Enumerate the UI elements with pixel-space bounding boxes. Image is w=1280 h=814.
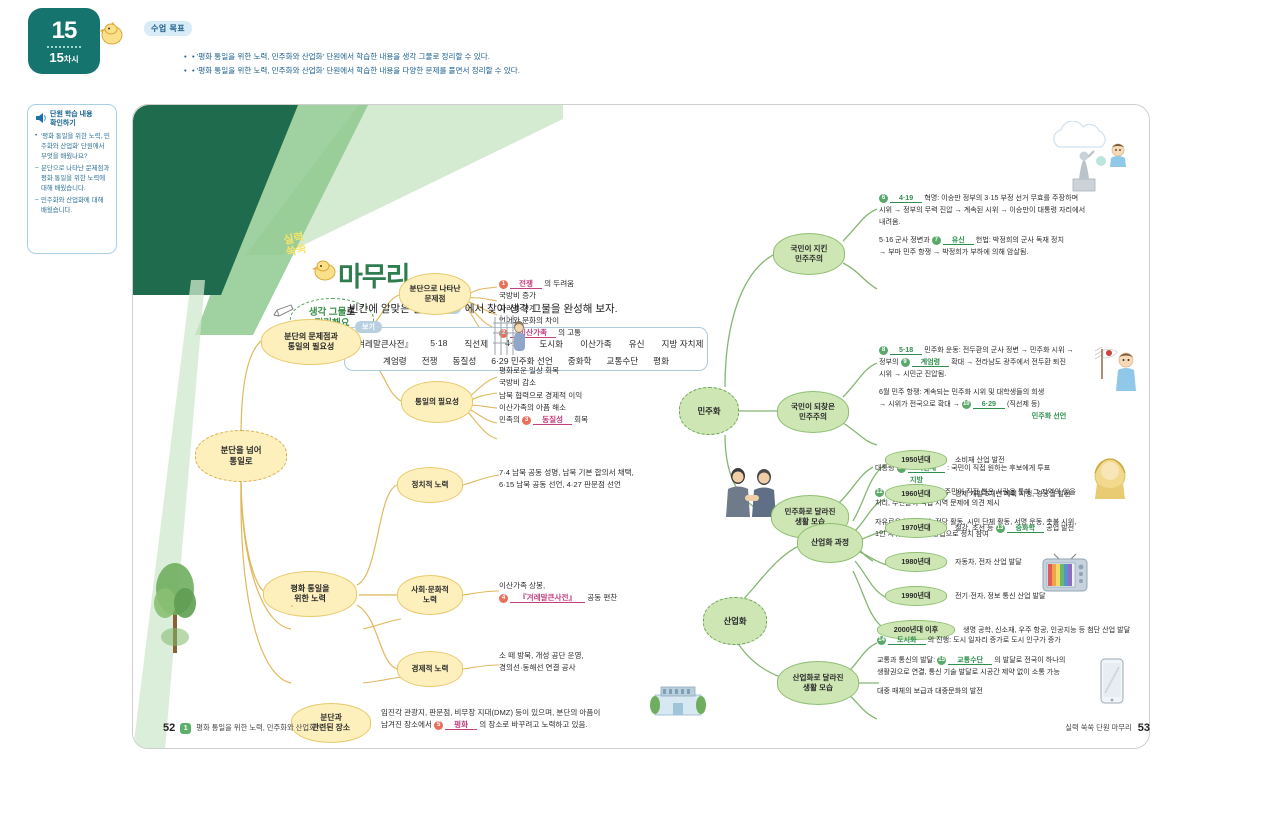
word-bank-item[interactable]: 전쟁 (422, 355, 438, 367)
spacer8 (291, 605, 293, 607)
word-bank-item[interactable]: 이산가족 (580, 338, 612, 350)
decade-text-1990s: 전기·전자, 정보 통신 산업 발달 (955, 591, 1046, 603)
leaf-line: 임진각 관광지, 판문점, 비무장 지대(DMZ) 등이 있으며, 분단의 아픔… (381, 707, 691, 719)
info-list-item: 분단으로 나타난 문제점과 평화 통일을 위한 노력에 대해 배웠습니다. (35, 164, 110, 195)
smartphone-icon (1099, 657, 1125, 705)
leaf-line: 14도시화 의 진행: 도시 일자리 증가로 도시 인구가 증가 (877, 635, 1133, 647)
goal-item: • '평화 통일을 위한 노력, 민주화와 산업화' 단원에서 학습한 내용을 … (184, 50, 784, 64)
word-bank-item[interactable]: 직선제 (464, 338, 488, 350)
decor-left-strip (133, 280, 205, 749)
mindmap-node-unification-need: 통일의 필요성 (401, 381, 473, 423)
leaf-text-group: 7·4 남북 공동 성명, 남북 기본 합의서 채택, 6·15 남북 공동 선… (499, 467, 739, 492)
info-list-item: '평화 통일을 위한 노력, 민주화와 산업화' 단원에서 무엇을 배웠나요? (35, 132, 110, 163)
leaf-text-group: 소 떼 방북, 개성 공단 운영, 경의선·동해선 연결 공사 (499, 650, 739, 675)
wig-icon (1091, 457, 1129, 501)
leaf-line: 내려옴. (879, 217, 1139, 229)
leaf-text-group: 임진각 관광지, 판문점, 비무장 지대(DMZ) 등이 있으며, 분단의 아픔… (381, 707, 691, 732)
info-box-title: 단원 학습 내용확인하기 (50, 111, 93, 129)
leaf-line: → 시위가 전국으로 확대 → 106·29 (직선제 등) (879, 399, 1141, 411)
word-bank-tag: 보기 (355, 321, 382, 333)
unit-review-box: 단원 학습 내용확인하기 '평화 통일을 위한 노력, 민주화와 산업화' 단원… (27, 104, 117, 254)
chick-icon (98, 22, 124, 46)
mindmap-node-protected-democracy: 국민이 지킨민주주의 (773, 233, 845, 275)
unit-badge: 1 (180, 723, 191, 734)
mindmap-root-democratization: 민주화 (679, 387, 739, 435)
mindmap-node-industrialized-life: 산업화로 달라진생활 모습 (777, 661, 859, 705)
info-list-item: 민주화와 산업화에 대해 배웠습니다. (35, 196, 110, 217)
word-bank-item[interactable]: 5·18 (430, 338, 447, 350)
building-dmz-icon (649, 683, 707, 717)
footer-left: 52 1 평화 통일을 위한 노력, 민주화와 산업화 (163, 722, 316, 734)
leaf-line: 생활권으로 연결, 통신 기술 발달로 시공간 제약 없이 소통 가능 (877, 667, 1133, 679)
fence-boy-icon (491, 313, 531, 357)
page-panel: 실력쑥쑥 단원 마무리 생각 그물로 정리해요 빈칸에 알맞은 말을 보기 에서… (132, 104, 1150, 749)
word-bank-item[interactable]: 동질성 (453, 355, 477, 367)
leaf-text-group: 14도시화 의 진행: 도시 일자리 증가로 도시 인구가 증가 교통과 통신의… (877, 635, 1133, 698)
leaf-line: 시위 → 정부의 무력 진압 → 계속된 시위 → 이승만이 대통령 자리에서 (879, 205, 1139, 217)
badge-divider (47, 46, 81, 48)
mindmap-root-industrialization: 산업화 (703, 597, 767, 645)
mindmap-branch-problems: 분단의 문제점과통일의 필요성 (261, 319, 361, 365)
leaf-line: 평화로운 일상 회복 (499, 365, 719, 377)
leaf-line: 4『겨레말큰사전』 공동 편찬 (499, 592, 739, 604)
lesson-count: 15차시 (49, 51, 78, 64)
mindmap-branch-peace-efforts: 평화 통일을위한 노력 (263, 571, 357, 617)
mindmap-root-left: 분단을 넘어통일로 (195, 430, 287, 482)
leaf-line: 1전쟁 의 두려움 (499, 278, 699, 290)
word-bank-item[interactable]: 지방 자치제 (662, 338, 704, 350)
decade-node-1960s: 1960년대 (885, 484, 947, 504)
leaf-line: 이산가족 상봉, (499, 580, 739, 592)
speaker-icon (35, 112, 47, 124)
info-box-list: '평화 통일을 위한 노력, 민주화와 산업화' 단원에서 무엇을 배웠나요? … (35, 132, 110, 217)
kid-taegeukgi-icon (1093, 345, 1141, 391)
decade-node-1990s: 1990년대 (885, 586, 947, 606)
leaf-line: 국방비 증가 (499, 290, 699, 302)
leaf-line: 5·16 군사 정변과 7유신 헌법: 박정희의 군사 독재 정치 (879, 235, 1139, 247)
decade-node-1980s: 1980년대 (885, 552, 947, 572)
leaf-line: 경의선·동해선 연결 공사 (499, 662, 739, 674)
leaf-line: 국방비 감소 (499, 377, 719, 389)
goal-list: • '평화 통일을 위한 노력, 민주화와 산업화' 단원에서 학습한 내용을 … (144, 50, 784, 79)
leaf-line: 대중 매체의 보급과 대중문화의 발전 (877, 686, 1133, 698)
lesson-number: 15 (52, 19, 77, 43)
textbook-page: 15 15차시 수업 목표 • '평화 통일을 위한 노력, 민주화와 산업화'… (0, 0, 1280, 814)
leaf-line: → 부마 민주 항쟁 → 박정희가 부하에 의해 암살됨. (879, 247, 1139, 259)
mindmap-node-sociocultural-efforts: 사회·문화적노력 (397, 575, 463, 615)
answer-prefix-line: 지방 (901, 476, 932, 484)
lesson-number-badge: 15 15차시 (28, 8, 100, 74)
leaf-line: 남겨진 장소에서 5평화 의 장소로 바꾸려고 노력하고 있음. (381, 719, 691, 731)
word-bank-item[interactable]: 유신 (629, 338, 645, 350)
goal-tag: 수업 목표 (144, 21, 192, 36)
tv-icon (1041, 553, 1089, 595)
leaf-text-group: 64·19 혁명: 이승만 정부의 3·15 부정 선거 무효를 주장하며 시위… (879, 193, 1139, 259)
leaf-text-group: 이산가족 상봉, 4『겨레말큰사전』 공동 편찬 (499, 580, 739, 605)
tree-icon (151, 545, 199, 655)
leaf-line: 64·19 혁명: 이승만 정부의 3·15 부정 선거 무효를 주장하며 (879, 193, 1139, 205)
decade-node-1950s: 1950년대 (885, 450, 947, 470)
leaf-line: 교통과 통신의 발달: 15교통수단 의 발달로 전국이 하나의 (877, 655, 1133, 667)
info-box-header: 단원 학습 내용확인하기 (35, 111, 110, 129)
statue-icon (1061, 147, 1107, 193)
goal-item: • '평화 통일을 위한 노력, 민주화와 산업화' 단원에서 학습한 내용을 … (184, 64, 784, 78)
decade-text-1960s: 경제 개발 5개년 계획 시행, 경공업 발전 (955, 489, 1071, 501)
mindmap-node-economic-efforts: 경제적 노력 (397, 651, 463, 687)
mindmap-node-industrialization-process: 산업화 과정 (797, 523, 863, 563)
decade-text-1980s: 자동차, 전자 산업 발달 (955, 557, 1022, 569)
footer-unit-title: 평화 통일을 위한 노력, 민주화와 산업화 (196, 723, 316, 733)
mindmap-node-political-efforts: 정치적 노력 (397, 467, 463, 503)
decade-node-1970s: 1970년대 (885, 518, 947, 538)
page-number-left: 52 (163, 722, 175, 734)
decade-text-1970s: 철강, 조선 등 13중화학 공업 발전 (955, 523, 1074, 535)
answer-second-line: 민주화 선언 (1023, 412, 1076, 420)
word-bank-item[interactable]: 계엄령 (383, 355, 407, 367)
leaf-line: 소 떼 방북, 개성 공단 운영, (499, 650, 739, 662)
mindmap-node-restored-democracy: 국민이 되찾은민주주의 (777, 391, 849, 433)
page-number-right: 53 (1138, 722, 1150, 734)
footer-right: 실력 쑥쑥 단원 마무리 53 (1065, 722, 1150, 734)
footer-section-title: 실력 쑥쑥 단원 마무리 (1065, 723, 1132, 733)
mindmap-node-division-problems: 분단으로 나타난문제점 (399, 273, 471, 315)
leaf-line: 6·15 남북 공동 선언, 4·27 판문점 선언 (499, 479, 739, 491)
leaf-line: 7·4 남북 공동 성명, 남북 기본 합의서 채택, (499, 467, 739, 479)
word-bank-item[interactable]: 도시화 (539, 338, 563, 350)
decade-text-1950s: 소비재 산업 발전 (955, 455, 1005, 467)
kid-megaphone-icon (1105, 141, 1131, 167)
chick-icon (311, 258, 337, 282)
